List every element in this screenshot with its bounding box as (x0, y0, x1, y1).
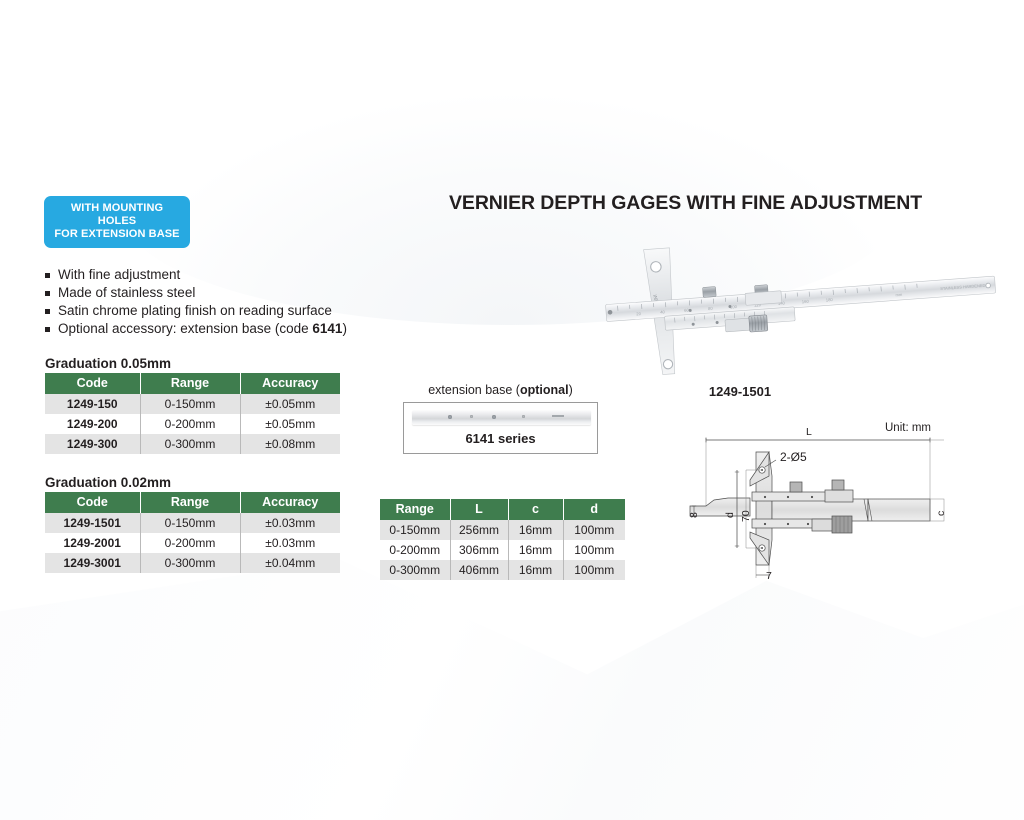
table-header-row: Code Range Accuracy (45, 373, 340, 394)
table-row: 1249-150 0-150mm ±0.05mm (45, 394, 340, 414)
table-header-row: Code Range Accuracy (45, 492, 340, 513)
table-row: 1249-2001 0-200mm ±0.03mm (45, 533, 340, 553)
table-header-row: Range L c d (380, 499, 625, 520)
dim-label-8: 8 (688, 512, 700, 518)
table-row: 1249-300 0-300mm ±0.08mm (45, 434, 340, 454)
feature-list: With fine adjustment Made of stainless s… (44, 266, 424, 338)
feature-item: With fine adjustment (44, 266, 424, 284)
dim-label-L: L (806, 426, 812, 438)
screw-icon (470, 415, 473, 418)
extension-base-panel: 6141 series (403, 402, 598, 454)
cell-code: 1249-200 (45, 414, 140, 434)
column-header-range: Range (140, 492, 240, 513)
unit-label: Unit: mm (885, 422, 931, 434)
cell-accuracy: ±0.03mm (240, 533, 340, 553)
cell-code: 1249-300 (45, 434, 140, 454)
table-title-grad-002: Graduation 0.02mm (45, 475, 171, 490)
dim-label-mounting-holes: 2-Ø5 (780, 450, 807, 464)
svg-text:160: 160 (802, 299, 810, 305)
mounting-hole-icon (448, 415, 452, 419)
column-header-code: Code (45, 373, 140, 394)
svg-text:180: 180 (826, 297, 834, 303)
table-title-grad-005: Graduation 0.05mm (45, 356, 171, 371)
table-row: 0-200mm 306mm 16mm 100mm (380, 540, 625, 560)
column-header-code: Code (45, 492, 140, 513)
dim-label-c: c (935, 511, 947, 516)
engraving-mark (552, 415, 564, 417)
screw-icon (522, 415, 525, 418)
table-row: 1249-3001 0-300mm ±0.04mm (45, 553, 340, 573)
feature-item-optional-accessory: Optional accessory: extension base (code… (44, 320, 424, 338)
extension-base-photo (412, 410, 591, 425)
column-header-d: d (563, 499, 625, 520)
dim-label-7: 7 (766, 570, 772, 582)
background-watermark-bottom (0, 560, 1024, 820)
dim-label-70: 70 (740, 510, 752, 522)
cell-range: 0-200mm (140, 533, 240, 553)
cell-accuracy: ±0.05mm (240, 394, 340, 414)
column-header-range: Range (380, 499, 450, 520)
cell-c: 16mm (508, 520, 563, 540)
cell-d: 100mm (563, 520, 625, 540)
cell-range: 0-200mm (140, 414, 240, 434)
cell-code: 1249-1501 (45, 513, 140, 533)
product-code-label: 1249-1501 (660, 384, 820, 399)
cell-l: 256mm (450, 520, 508, 540)
cell-l: 406mm (450, 560, 508, 580)
mounting-holes-badge: WITH MOUNTING HOLES FOR EXTENSION BASE (44, 196, 190, 248)
cell-c: 16mm (508, 540, 563, 560)
feature-text-prefix: Optional accessory: extension base (code (58, 321, 312, 336)
cell-accuracy: ±0.03mm (240, 513, 340, 533)
spec-table-grad-005: Code Range Accuracy 1249-150 0-150mm ±0.… (45, 373, 340, 454)
cell-range: 0-150mm (140, 394, 240, 414)
cell-range: 0-200mm (380, 540, 450, 560)
svg-text:mm: mm (895, 292, 903, 298)
feature-item: Satin chrome plating finish on reading s… (44, 302, 424, 320)
caption-prefix: extension base ( (428, 383, 520, 397)
cell-code: 1249-150 (45, 394, 140, 414)
column-header-l: L (450, 499, 508, 520)
technical-drawing: L 2-Ø5 8 d 70 7 c Unit: mm (680, 420, 984, 592)
cell-c: 16mm (508, 560, 563, 580)
extension-base-caption: extension base (optional) (403, 383, 598, 397)
dimensions-table: Range L c d 0-150mm 256mm 16mm 100mm 0-2… (380, 499, 625, 580)
cell-d: 100mm (563, 540, 625, 560)
cell-range: 0-300mm (140, 553, 240, 573)
cell-range: 0-150mm (140, 513, 240, 533)
cell-accuracy: ±0.08mm (240, 434, 340, 454)
cell-code: 1249-3001 (45, 553, 140, 573)
cell-d: 100mm (563, 560, 625, 580)
feature-text-suffix: ) (342, 321, 347, 336)
caption-optional: optional (520, 383, 569, 397)
column-header-range: Range (140, 373, 240, 394)
caption-suffix: ) (569, 383, 573, 397)
product-photo: INSIZE 204060 80100120 (596, 232, 1014, 377)
cell-code: 1249-2001 (45, 533, 140, 553)
page-title: VERNIER DEPTH GAGES WITH FINE ADJUSTMENT (449, 192, 922, 215)
spec-table-grad-002: Code Range Accuracy 1249-1501 0-150mm ±0… (45, 492, 340, 573)
column-header-accuracy: Accuracy (240, 492, 340, 513)
cell-accuracy: ±0.04mm (240, 553, 340, 573)
badge-line-2: FOR EXTENSION BASE (52, 228, 182, 241)
table-row: 0-150mm 256mm 16mm 100mm (380, 520, 625, 540)
extension-base-series-label: 6141 series (404, 431, 597, 446)
table-row: 1249-200 0-200mm ±0.05mm (45, 414, 340, 434)
accessory-code: 6141 (312, 321, 342, 336)
cell-range: 0-300mm (380, 560, 450, 580)
cell-accuracy: ±0.05mm (240, 414, 340, 434)
cell-range: 0-300mm (140, 434, 240, 454)
mounting-hole-icon (492, 415, 496, 419)
column-header-c: c (508, 499, 563, 520)
dim-label-d: d (724, 512, 736, 518)
table-row: 0-300mm 406mm 16mm 100mm (380, 560, 625, 580)
cell-l: 306mm (450, 540, 508, 560)
badge-line-1: WITH MOUNTING HOLES (52, 202, 182, 228)
feature-item: Made of stainless steel (44, 284, 424, 302)
column-header-accuracy: Accuracy (240, 373, 340, 394)
table-row: 1249-1501 0-150mm ±0.03mm (45, 513, 340, 533)
cell-range: 0-150mm (380, 520, 450, 540)
